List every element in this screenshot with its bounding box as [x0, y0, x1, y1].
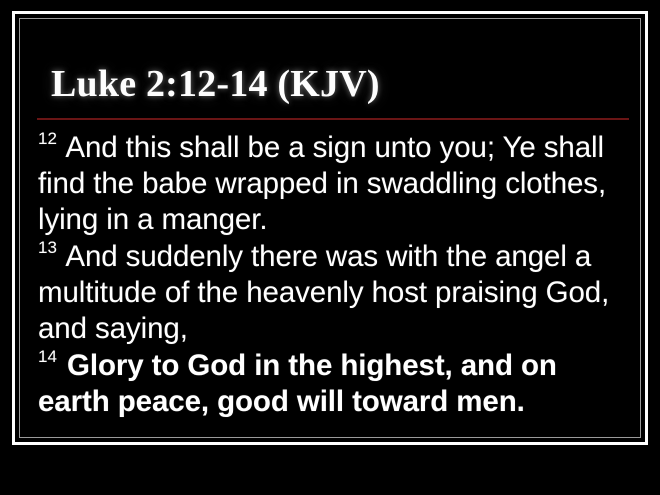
- verse-paragraph: 14 Glory to God in the highest, and on e…: [38, 348, 621, 420]
- bottom-black-band: [0, 445, 660, 495]
- verse-paragraph: 13 And suddenly there was with the angel…: [38, 239, 621, 347]
- verse-list: 12 And this shall be a sign unto you; Ye…: [38, 130, 621, 421]
- verse-body: Glory to God in the highest, and on eart…: [38, 349, 557, 418]
- verse-number: 12: [38, 129, 59, 148]
- title-divider: [37, 118, 629, 120]
- verse-body: And suddenly there was with the angel a …: [38, 240, 609, 345]
- slide-content: Luke 2:12-14 (KJV) 12 And this shall be …: [15, 14, 645, 442]
- verse-body: And this shall be a sign unto you; Ye sh…: [38, 131, 606, 236]
- verse-number: 14: [38, 347, 59, 366]
- page-title: Luke 2:12-14 (KJV): [51, 62, 380, 106]
- verse-paragraph: 12 And this shall be a sign unto you; Ye…: [38, 130, 621, 238]
- verse-number: 13: [38, 238, 59, 257]
- slide-border-frame: Luke 2:12-14 (KJV) 12 And this shall be …: [12, 11, 648, 445]
- slide-canvas: { "slide": { "title": "Luke 2:12-14 (KJV…: [0, 0, 660, 495]
